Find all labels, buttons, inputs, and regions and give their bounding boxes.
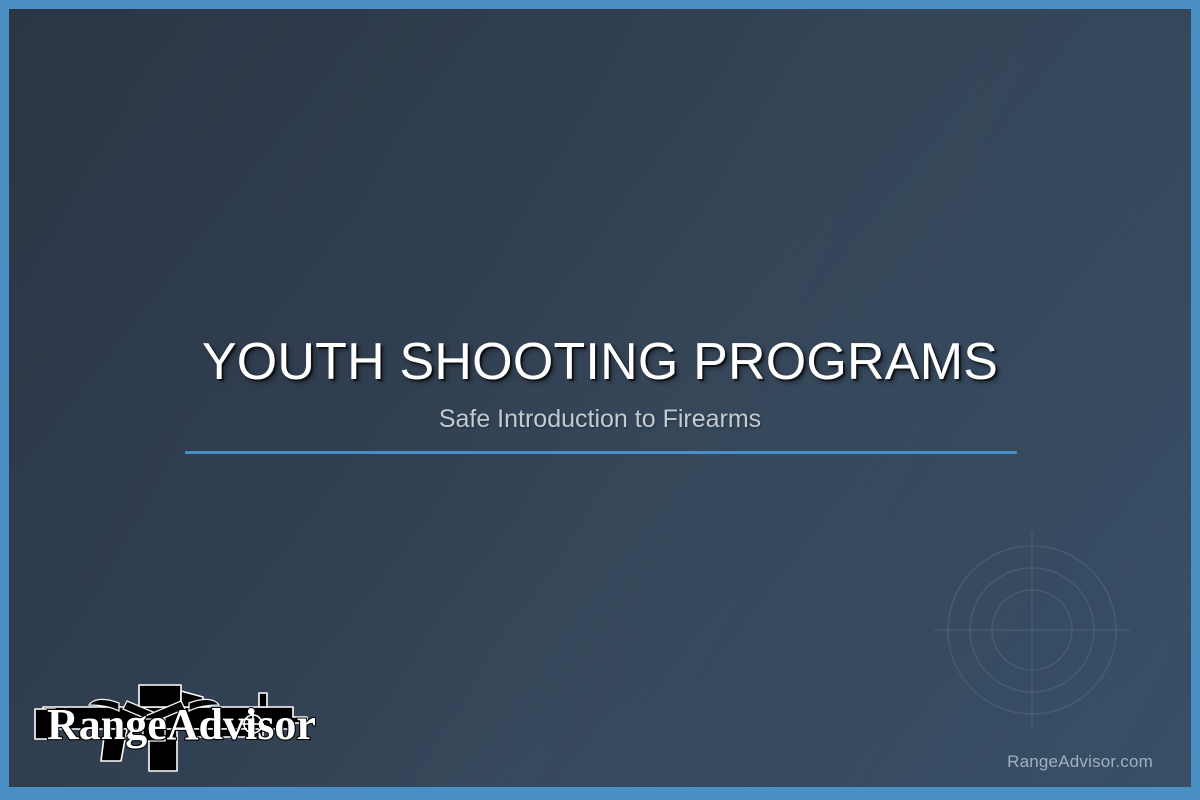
title-divider <box>185 451 1017 454</box>
page-title: YOUTH SHOOTING PROGRAMS <box>9 334 1191 390</box>
presentation-slide: YOUTH SHOOTING PROGRAMS Safe Introductio… <box>0 0 1200 800</box>
brand-logo-wordmark: RangeAdvisor <box>47 700 316 749</box>
footer-url: RangeAdvisor.com <box>1007 752 1153 772</box>
rifle-silhouette-icon: RangeAdvisor <box>31 667 317 775</box>
title-block: YOUTH SHOOTING PROGRAMS Safe Introductio… <box>9 334 1191 434</box>
crosshair-target-icon <box>930 528 1134 732</box>
slide-canvas: YOUTH SHOOTING PROGRAMS Safe Introductio… <box>9 9 1191 787</box>
page-subtitle: Safe Introduction to Firearms <box>9 404 1191 434</box>
brand-logo: RangeAdvisor <box>31 667 317 775</box>
